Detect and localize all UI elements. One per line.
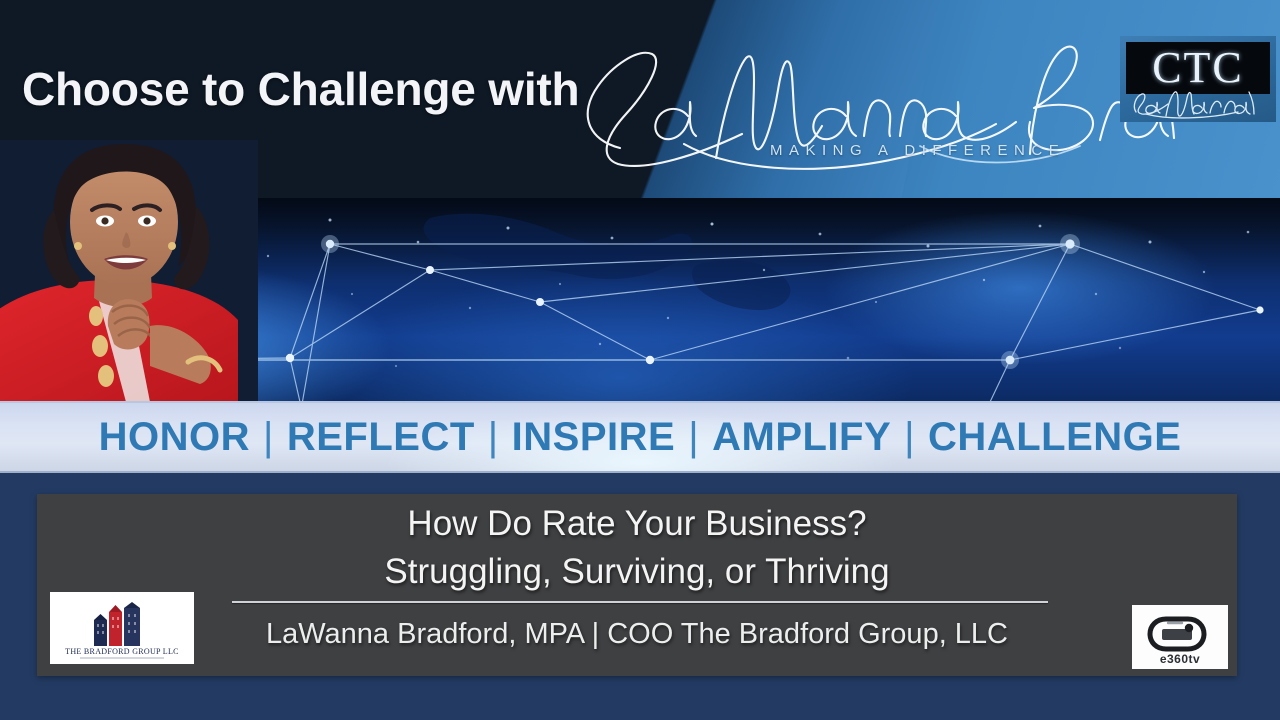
svg-text:e360tv: e360tv <box>1160 652 1200 666</box>
brand-tagline: MAKING A DIFFERENCE <box>770 142 1065 159</box>
bradford-group-logo[interactable]: THE BRADFORD GROUP LLC <box>50 592 194 664</box>
value-word-amplify: AMPLIFY <box>711 415 892 460</box>
value-word-reflect: REFLECT <box>286 415 476 460</box>
session-title-block: How Do Rate Your Business? Struggling, S… <box>37 500 1237 596</box>
header-graphic: Choose to Challenge with <box>0 0 1280 402</box>
values-list: HONOR | REFLECT | INSPIRE | AMPLIFY | CH… <box>98 415 1183 460</box>
value-separator-3: | <box>676 415 711 460</box>
svg-text:THE BRADFORD GROUP LLC: THE BRADFORD GROUP LLC <box>65 647 179 656</box>
slide-canvas: Choose to Challenge with <box>0 0 1280 720</box>
e360tv-logo[interactable]: e360tv <box>1132 605 1228 669</box>
session-title-line-2: Struggling, Surviving, or Thriving <box>37 548 1237 596</box>
value-word-honor: HONOR <box>98 415 251 460</box>
ctc-watermark-logo[interactable]: CTC <box>1120 36 1276 122</box>
value-separator-1: | <box>251 415 286 460</box>
value-word-challenge: CHALLENGE <box>927 415 1182 460</box>
title-divider <box>232 601 1048 603</box>
page-title: Choose to Challenge with <box>22 62 579 116</box>
session-title-line-1: How Do Rate Your Business? <box>37 500 1237 548</box>
speaker-byline: LaWanna Bradford, MPA | COO The Bradford… <box>37 618 1237 651</box>
value-separator-4: | <box>892 415 927 460</box>
ctc-logo-signature <box>1120 86 1276 122</box>
values-banner: HONOR | REFLECT | INSPIRE | AMPLIFY | CH… <box>0 401 1280 473</box>
header-mid-diagonal-band <box>601 0 940 200</box>
value-word-inspire: INSPIRE <box>511 415 677 460</box>
value-separator-2: | <box>476 415 511 460</box>
lower-content-panel: How Do Rate Your Business? Struggling, S… <box>37 494 1237 676</box>
speaker-portrait <box>0 140 258 402</box>
